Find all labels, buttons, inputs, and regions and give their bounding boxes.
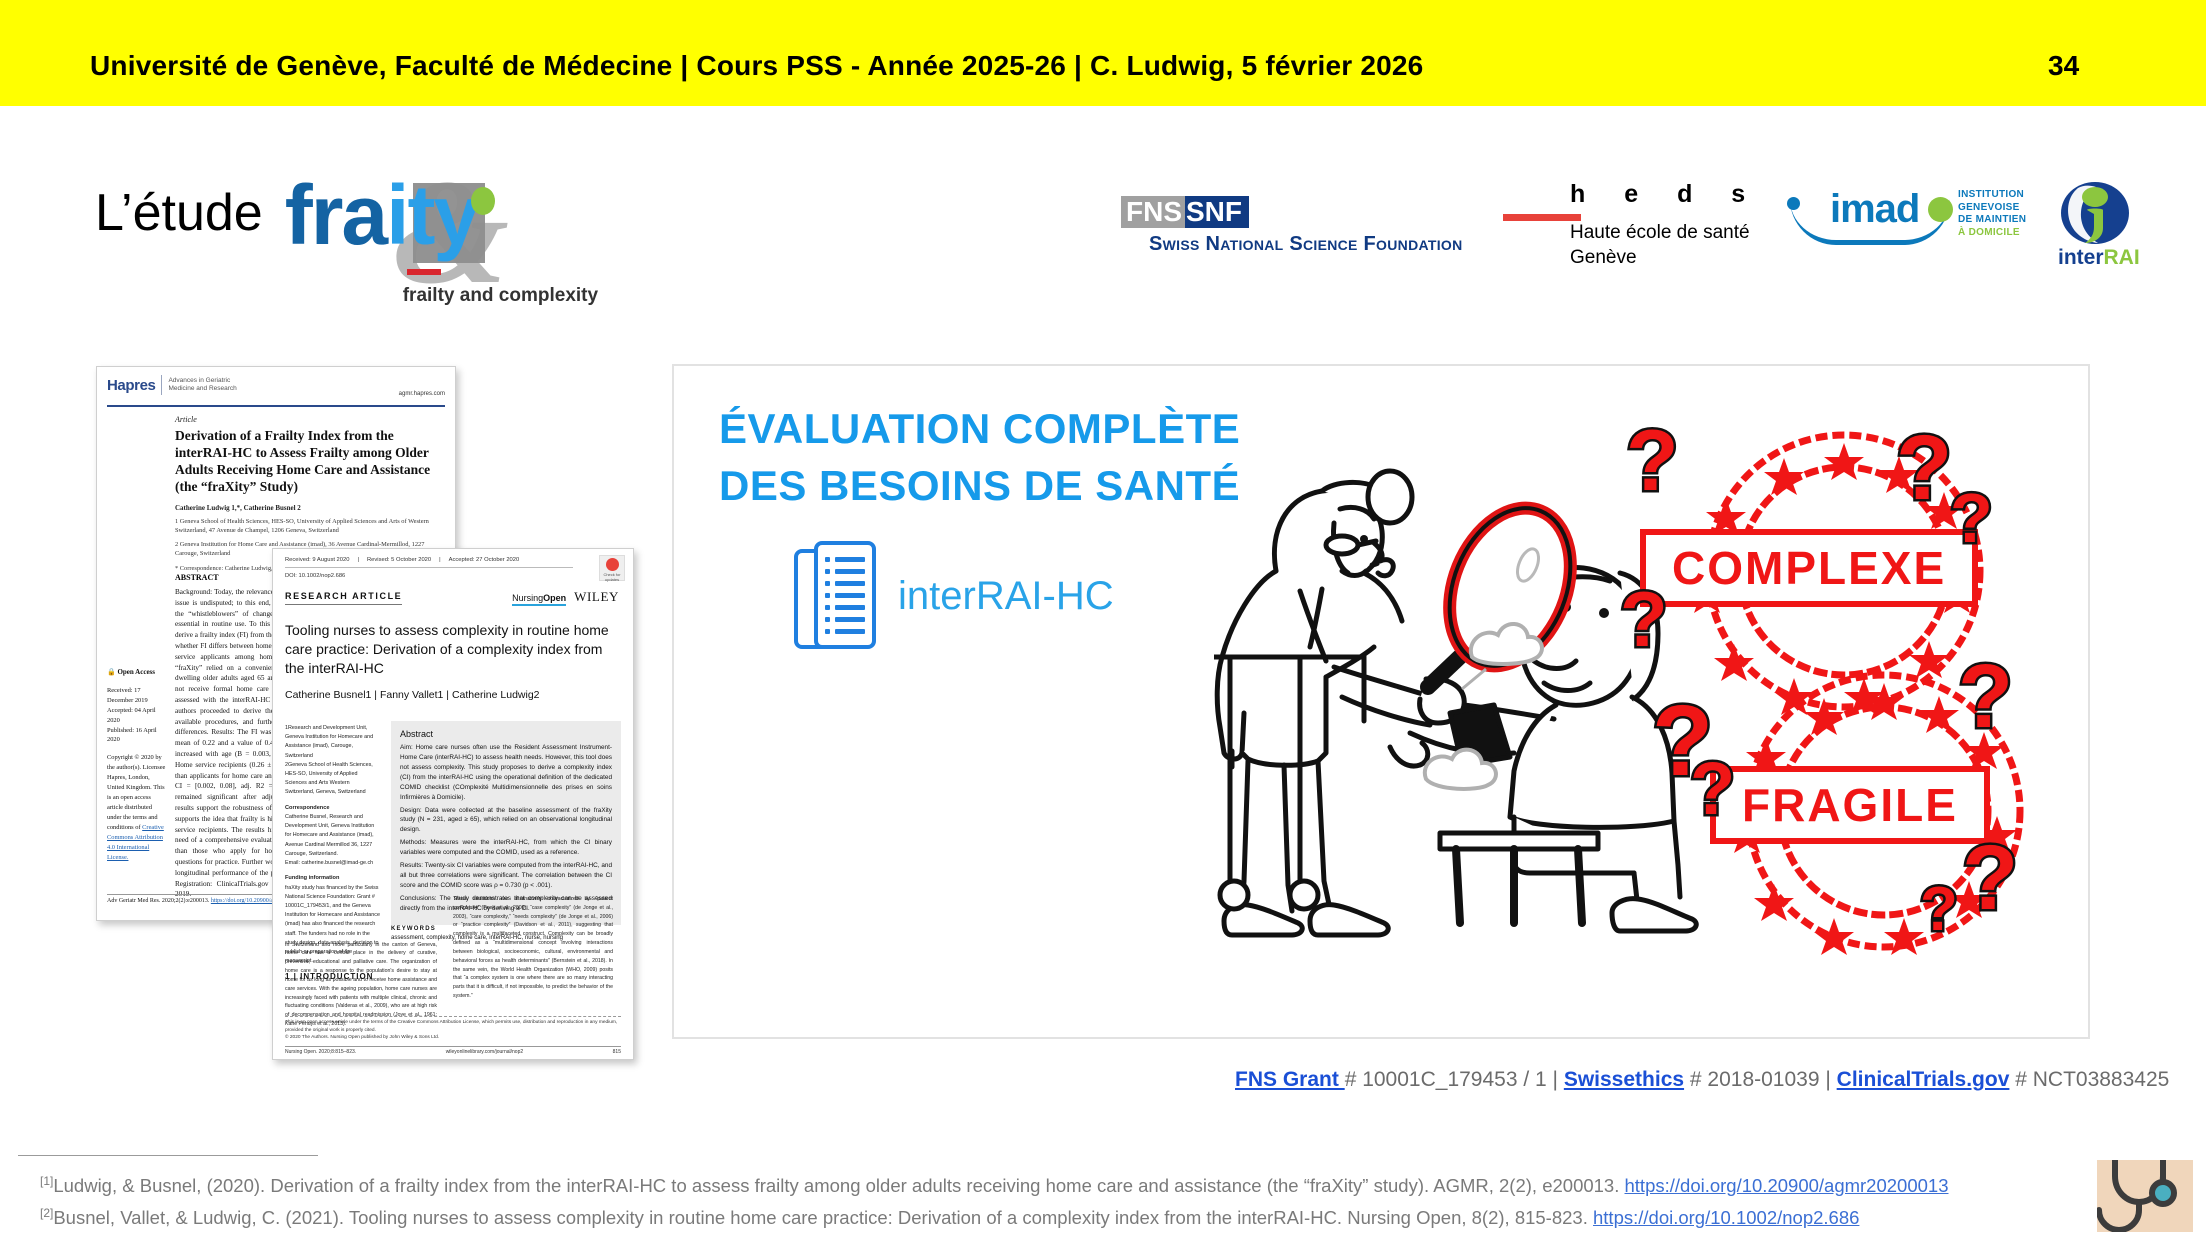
paper2-abstract-aim: Aim: Home care nurses often use the Resi…: [400, 743, 612, 803]
paper1-copyright: Copyright © 2020 by the author(s). Licen…: [107, 753, 167, 862]
paper2-journal-brand-1: Nursing: [512, 593, 543, 603]
slide-title: L’étude & fraity frailty and complexity: [95, 165, 575, 305]
paper1-received: Received: 17 December 2019: [107, 686, 167, 706]
paper1-rule: [107, 405, 445, 407]
grant-separator-1: |: [1547, 1068, 1564, 1091]
stamp-fragile-label: FRAGILE: [1742, 778, 1958, 832]
paper2-doi: DOI: 10.1002/nop2.686: [285, 573, 345, 579]
paper2-funding-heading: Funding information: [285, 874, 380, 884]
red-dash-icon: [407, 269, 441, 275]
imad-caption-line-3: DE MAINTIEN: [1958, 214, 2026, 227]
stamp-fragile: FRAGILE ? ? ? ? ?: [1714, 666, 2054, 961]
figure-heading-line-1: ÉVALUATION COMPLÈTE: [719, 401, 1240, 458]
grant-separator-2: |: [1820, 1068, 1837, 1091]
paper1-divider: [161, 375, 162, 395]
footnote-1-marker: [1]: [40, 1174, 53, 1188]
paper2-abstract-heading: Abstract: [400, 729, 612, 739]
paper1-authors: Catherine Ludwig 1,*, Catherine Busnel 2: [175, 504, 445, 512]
paper2-left-column: 1Research and Development Unit, Geneva I…: [285, 724, 380, 966]
paper2-footer-right: wileyonlinelibrary.com/journal/nop2: [446, 1049, 523, 1055]
question-mark-icon-1: ?: [1626, 412, 1679, 511]
paper2-abstract-results: Results: Twenty-six CI variables were co…: [400, 861, 612, 891]
stethoscope-icon: [2097, 1160, 2193, 1232]
footnote-2-link[interactable]: https://doi.org/10.1002/nop2.686: [1593, 1207, 1859, 1228]
paper1-journal-line-1: Advances in Geriatric: [168, 377, 236, 385]
paper2-intro-column-2: These situations are alternatively chara…: [453, 895, 613, 1001]
interrai-logo: interRAI: [2058, 180, 2168, 275]
paper2-abstract-design: Design: Data were collected at the basel…: [400, 806, 612, 836]
paper2-journal-brand: NursingOpen: [512, 593, 566, 606]
paper1-open-access-badge: 🔒 Open Access: [107, 667, 167, 678]
figure-panel[interactable]: ÉVALUATION COMPLÈTE DES BESOINS DE SANTÉ: [672, 364, 2090, 1039]
question-mark-icon-9: ?: [1920, 874, 1958, 945]
paper1-accepted: Accepted: 04 April 2020: [107, 706, 167, 726]
imad-wordmark: imad: [1830, 187, 1919, 232]
paper1-citation: Adv Geriatr Med Res. 2020;2(2):e200013.: [107, 898, 209, 904]
paper2-title: Tooling nurses to assess complexity in r…: [285, 621, 619, 678]
paper-thumbnail-2[interactable]: Received: 9 August 2020 | Revised: 5 Oct…: [272, 548, 634, 1060]
header-title: Université de Genève, Faculté de Médecin…: [90, 50, 1423, 82]
green-dot-icon: [471, 187, 495, 215]
paper2-publisher: WILEY: [574, 589, 619, 605]
crossmark-icon[interactable]: Check for updates: [599, 555, 625, 581]
footnote-2: [2]Busnel, Vallet, & Ludwig, C. (2021). …: [40, 1206, 1859, 1229]
fraity-tagline: frailty and complexity: [403, 285, 598, 307]
paper1-open-access-label: Open Access: [117, 668, 155, 676]
imad-caption-line-4: À DOMICILE: [1958, 227, 2026, 240]
fns-snf-mark: FNS SNF: [1121, 196, 1463, 228]
fns-mark-right: SNF: [1185, 196, 1249, 228]
footnote-separator-rule: [18, 1155, 318, 1156]
crossmark-label: Check for updates: [603, 572, 620, 582]
paper2-affiliations: 1Research and Development Unit, Geneva I…: [285, 725, 373, 795]
slide-header-bar: Université de Genève, Faculté de Médecin…: [0, 0, 2206, 106]
question-mark-icon-4: ?: [1620, 574, 1668, 665]
paper2-brand: NursingOpen WILEY: [512, 589, 619, 606]
grant-line: FNS Grant # 10001C_179453 / 1 | Swisseth…: [1235, 1068, 2169, 1092]
footnote-2-marker: [2]: [40, 1206, 53, 1220]
paper2-dates: Received: 9 August 2020 | Revised: 5 Oct…: [285, 557, 573, 568]
stamp-complexe-box: COMPLEXE: [1640, 529, 1978, 607]
paper1-title: Derivation of a Frailty Index from the i…: [175, 428, 445, 496]
fraity-wordmark: fraity: [285, 173, 478, 257]
lock-icon: 🔒: [107, 668, 116, 676]
question-mark-icon-3: ?: [1950, 478, 1993, 558]
paper1-sidebar: 🔒 Open Access Received: 17 December 2019…: [107, 667, 167, 863]
imad-caption-line-2: GENEVOISE: [1958, 202, 2026, 215]
footnote-1-link[interactable]: https://doi.org/10.20900/agmr20200013: [1625, 1175, 1949, 1196]
paper1-copyright-text: Copyright © 2020 by the author(s). Licen…: [107, 754, 165, 830]
footnote-1-text: Ludwig, & Busnel, (2020). Derivation of …: [53, 1175, 1624, 1196]
stethoscope-badge: [2097, 1160, 2193, 1232]
clinicaltrials-value: # NCT03883425: [2009, 1068, 2169, 1091]
paper2-footer-left: Nursing Open. 2020;8:815–823.: [285, 1049, 356, 1055]
imad-logo: imad INSTITUTION GENEVOISE DE MAINTIEN À…: [1790, 185, 1990, 255]
paper2-correspondence-heading: Correspondence: [285, 804, 380, 814]
paper1-masthead: Hapres Advances in Geriatric Medicine an…: [107, 375, 445, 395]
question-mark-icon-2: ?: [1896, 416, 1952, 521]
fns-caption: Swiss National Science Foundation: [1149, 233, 1463, 256]
fns-grant-link[interactable]: FNS Grant: [1235, 1068, 1345, 1091]
paper2-footer-page: 815: [613, 1049, 621, 1055]
imad-caption-line-1: INSTITUTION: [1958, 189, 2026, 202]
heds-red-rule: [1503, 214, 1581, 221]
paper2-correspondence: Catherine Busnel, Research and Developme…: [285, 814, 374, 866]
interrai-hc-instrument: interRAI-HC: [794, 541, 1114, 651]
fns-mark-left: FNS: [1121, 196, 1185, 228]
page-number: 34: [2048, 50, 2079, 82]
paper2-running-footer: Nursing Open. 2020;8:815–823. wileyonlin…: [285, 1046, 621, 1055]
fraity-logo: & fraity frailty and complexity: [285, 165, 575, 305]
stamp-fragile-box: FRAGILE: [1710, 766, 1990, 844]
paper2-meta-div-1: |: [357, 557, 359, 563]
footnote-2-text: Busnel, Vallet, & Ludwig, C. (2021). Too…: [53, 1207, 1593, 1228]
paper1-site: agmr.hapres.com: [399, 391, 445, 397]
crossmark-dot: [606, 558, 619, 571]
figure-heading-line-2: DES BESOINS DE SANTÉ: [719, 458, 1240, 515]
paper1-kicker: Article: [175, 415, 445, 424]
question-mark-icon-6: ?: [1690, 746, 1735, 831]
fns-grant-value: # 10001C_179453 / 1: [1345, 1068, 1547, 1091]
paper1-abstract-heading: ABSTRACT: [175, 573, 219, 582]
paper2-article-type: RESEARCH ARTICLE: [285, 591, 402, 605]
fns-snf-logo: FNS SNF Swiss National Science Foundatio…: [1121, 196, 1463, 256]
heds-subtitle-line-2: Genève: [1570, 246, 1790, 271]
imad-green-dot-icon: [1928, 197, 1953, 222]
paper1-journal-line-2: Medicine and Research: [168, 385, 236, 393]
fraity-word-part-1: fra: [285, 168, 386, 262]
interrai-word-part-2: RAI: [2104, 246, 2140, 269]
paper2-abstract-methods: Methods: Measures were the interRAI-HC, …: [400, 838, 612, 858]
swissethics-link[interactable]: Swissethics: [1564, 1068, 1684, 1091]
figure-heading: ÉVALUATION COMPLÈTE DES BESOINS DE SANTÉ: [719, 401, 1240, 514]
interrai-hc-label: interRAI-HC: [898, 574, 1114, 619]
paper2-license: This is an open access article under the…: [285, 1016, 621, 1041]
paper2-authors: Catherine Busnel1 | Fanny Vallet1 | Cath…: [285, 689, 540, 701]
paper1-published: Published: 16 April 2020: [107, 726, 167, 746]
paper2-accepted: Accepted: 27 October 2020: [449, 557, 520, 563]
heds-logo: h e d s Haute école de santé Genève: [1560, 180, 1790, 270]
document-front-sheet: [814, 541, 876, 649]
swissethics-value: # 2018-01039: [1684, 1068, 1819, 1091]
footnote-1: [1]Ludwig, & Busnel, (2020). Derivation …: [40, 1174, 1949, 1197]
paper1-journal: Advances in Geriatric Medicine and Resea…: [168, 377, 236, 393]
fraity-word-part-2: ity: [386, 168, 478, 262]
imad-arc-dot: [1787, 197, 1800, 210]
heds-subtitle: Haute école de santé Genève: [1570, 221, 1790, 270]
imad-caption: INSTITUTION GENEVOISE DE MAINTIEN À DOMI…: [1958, 189, 2026, 239]
interrai-word-part-1: inter: [2058, 246, 2104, 269]
slide-title-text: L’étude: [95, 187, 263, 239]
question-mark-icon-8: ?: [1962, 826, 2018, 931]
paper1-affiliation-1: 1 Geneva School of Health Sciences, HES-…: [175, 517, 445, 536]
paper2-received: Received: 9 August 2020: [285, 557, 349, 563]
paper1-publisher: Hapres: [107, 377, 155, 394]
interrai-globe-icon: [2058, 180, 2132, 246]
paper2-revised: Revised: 5 October 2020: [367, 557, 431, 563]
paper2-brand-rule: [512, 604, 566, 606]
interrai-hc-document-icon: [794, 541, 876, 651]
heds-letters: h e d s: [1570, 180, 1790, 209]
paper2-journal-brand-2: Open: [543, 593, 566, 603]
clinicaltrials-link[interactable]: ClinicalTrials.gov: [1837, 1068, 2010, 1091]
interrai-wordmark: interRAI: [2058, 246, 2140, 270]
stamp-complexe-label: COMPLEXE: [1672, 541, 1946, 595]
heds-subtitle-line-1: Haute école de santé: [1570, 221, 1790, 246]
paper2-meta-div-2: |: [439, 557, 441, 563]
question-mark-icon-7: ?: [1958, 646, 2013, 749]
